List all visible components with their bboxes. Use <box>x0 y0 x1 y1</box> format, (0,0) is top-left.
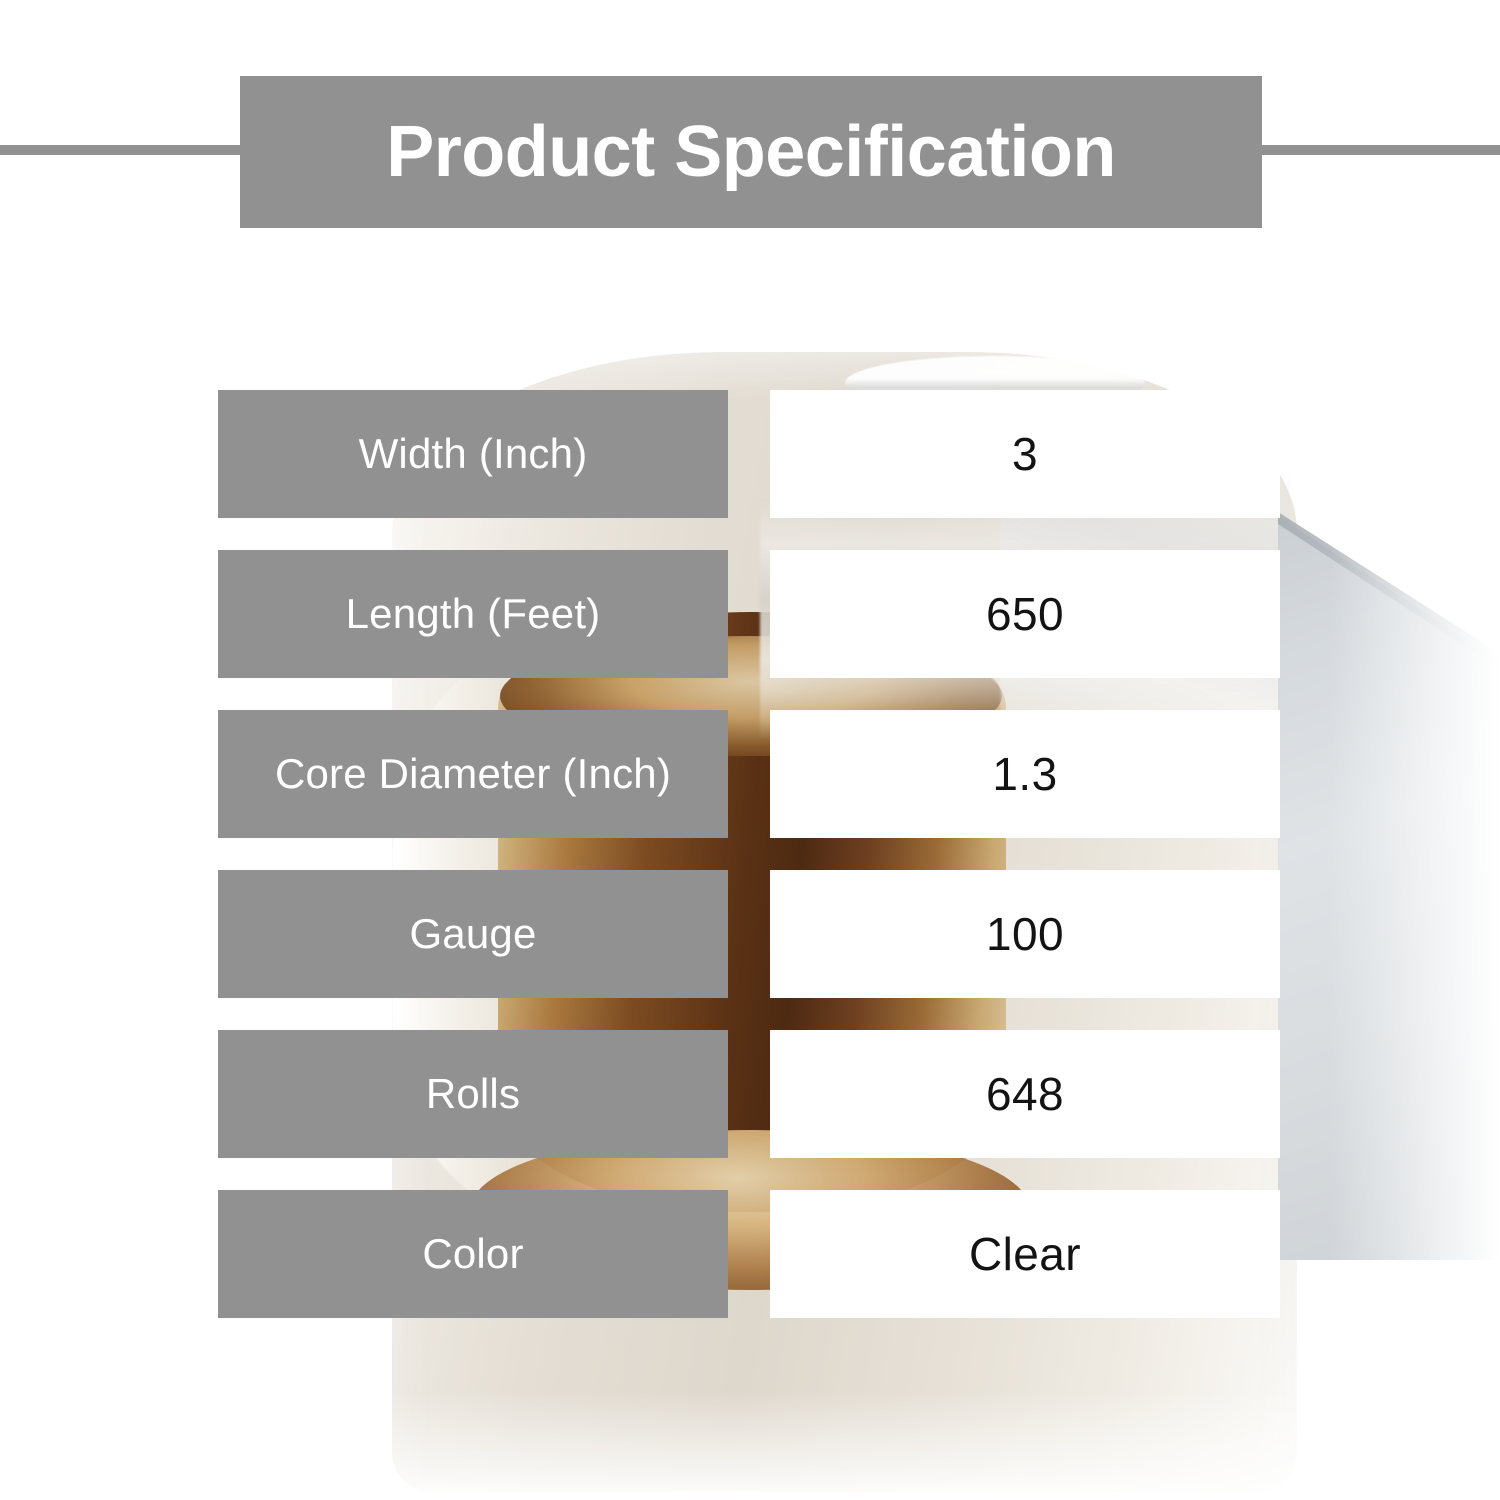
spec-label-cell-length: Length (Feet) <box>218 550 728 678</box>
spec-value-cell-width: 3 <box>770 390 1280 518</box>
specification-table: Width (Inch) 3 Length (Feet) 650 Core Di… <box>218 390 1280 1350</box>
spec-value-text: Clear <box>969 1227 1081 1281</box>
spec-label-cell-rolls: Rolls <box>218 1030 728 1158</box>
film-sheet-edge-shape <box>1270 500 1500 700</box>
spec-label-text: Length (Feet) <box>346 592 601 637</box>
table-row: Width (Inch) 3 <box>218 390 1280 518</box>
spec-label-text: Rolls <box>426 1072 520 1117</box>
spec-value-cell-core-diameter: 1.3 <box>770 710 1280 838</box>
film-sheet-shape <box>1270 500 1500 1260</box>
spec-label-cell-color: Color <box>218 1190 728 1318</box>
header-banner: Product Specification <box>240 76 1262 228</box>
spec-value-text: 100 <box>986 907 1064 961</box>
spec-value-cell-rolls: 648 <box>770 1030 1280 1158</box>
table-row: Length (Feet) 650 <box>218 550 1280 678</box>
spec-label-text: Gauge <box>409 912 536 957</box>
page-title: Product Specification <box>386 111 1116 193</box>
spec-label-cell-gauge: Gauge <box>218 870 728 998</box>
spec-value-text: 648 <box>986 1067 1064 1121</box>
spec-value-text: 650 <box>986 587 1064 641</box>
spec-label-text: Color <box>422 1232 523 1277</box>
spec-value-cell-color: Clear <box>770 1190 1280 1318</box>
table-row: Color Clear <box>218 1190 1280 1318</box>
product-specification-infographic: Product Specification Width (Inch) 3 Len… <box>0 0 1500 1500</box>
table-row: Gauge 100 <box>218 870 1280 998</box>
spec-value-cell-gauge: 100 <box>770 870 1280 998</box>
spec-value-cell-length: 650 <box>770 550 1280 678</box>
spec-label-text: Core Diameter (Inch) <box>275 752 671 797</box>
spec-label-text: Width (Inch) <box>359 432 588 477</box>
table-row: Core Diameter (Inch) 1.3 <box>218 710 1280 838</box>
spec-label-cell-width: Width (Inch) <box>218 390 728 518</box>
spec-value-text: 1.3 <box>992 747 1057 801</box>
spec-label-cell-core-diameter: Core Diameter (Inch) <box>218 710 728 838</box>
spec-value-text: 3 <box>1012 427 1038 481</box>
table-row: Rolls 648 <box>218 1030 1280 1158</box>
